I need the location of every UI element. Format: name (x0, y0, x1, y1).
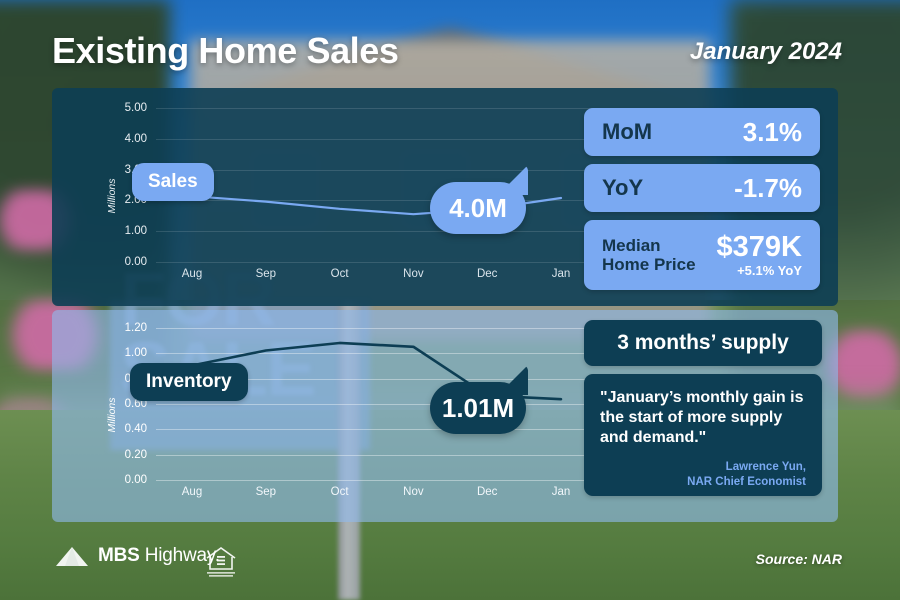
inventory-ytick: 0.00 (125, 474, 147, 486)
sales-plot-area: 0.00 1.00 2.00 3.00 4.00 5.00 Aug Sep Oc… (156, 108, 606, 262)
sales-ytick: 1.00 (125, 225, 147, 237)
stat-value-yoy: -1.7% (734, 173, 802, 204)
sales-series-label: Sales (132, 163, 214, 201)
sales-y-axis-title: Millions (106, 178, 118, 213)
inventory-y-axis-title: Millions (106, 397, 118, 432)
inventory-value-callout: 1.01M (430, 382, 526, 434)
inventory-series-label: Inventory (130, 363, 248, 401)
equal-housing-icon (203, 544, 239, 578)
stat-label-line2: Home Price (602, 255, 696, 274)
sales-ytick: 4.00 (125, 133, 147, 145)
report-period: January 2024 (690, 38, 842, 66)
sales-ytick: 0.00 (125, 256, 147, 268)
sales-ytick: 5.00 (125, 102, 147, 114)
source-note: Source: NAR (756, 551, 842, 567)
stat-value-median-home-price: $379K (717, 232, 802, 262)
inventory-ytick: 0.40 (125, 423, 147, 435)
stat-label-median-home-price: Median Home Price (602, 236, 696, 274)
inventory-callout-text: 1.01M (442, 393, 514, 424)
stat-label-line1: Median (602, 236, 661, 255)
logo-brand: MBS (98, 545, 140, 566)
quote-text: "January’s monthly gain is the start of … (600, 388, 806, 448)
page-title: Existing Home Sales (52, 30, 399, 72)
months-supply-card[interactable]: 3 months’ supply (584, 320, 822, 366)
inventory-panel: Millions 0.00 0.20 0.40 0.60 0.80 1.00 1… (52, 310, 838, 522)
stat-card-yoy[interactable]: YoY -1.7% (584, 164, 820, 212)
quote-attribution: Lawrence Yun, NAR Chief Economist (600, 460, 806, 490)
stat-card-median-home-price[interactable]: Median Home Price $379K +5.1% YoY (584, 220, 820, 290)
inventory-ytick: 1.20 (125, 322, 147, 334)
inventory-ytick: 0.20 (125, 449, 147, 461)
sales-callout-text: 4.0M (449, 193, 507, 224)
months-supply-text: 3 months’ supply (617, 331, 789, 355)
quote-author: Lawrence Yun, (600, 460, 806, 475)
inventory-chart: Millions 0.00 0.20 0.40 0.60 0.80 1.00 1… (114, 320, 614, 510)
quote-card: "January’s monthly gain is the start of … (584, 374, 822, 496)
mountain-icon (55, 546, 89, 567)
stat-label-mom: MoM (602, 120, 652, 145)
stat-value-mom: 3.1% (743, 117, 802, 148)
stat-label-yoy: YoY (602, 176, 643, 201)
mbs-highway-wordmark: MBS Highway. (98, 545, 220, 567)
inventory-ytick: 1.00 (125, 347, 147, 359)
sales-panel: Millions 0.00 1.00 2.00 3.00 4.00 5.00 A… (52, 88, 838, 306)
sales-value-callout: 4.0M (430, 182, 526, 234)
quote-author-title: NAR Chief Economist (600, 475, 806, 490)
stat-value-group-median: $379K +5.1% YoY (717, 232, 802, 277)
stat-card-mom[interactable]: MoM 3.1% (584, 108, 820, 156)
mbs-highway-logo[interactable]: MBS Highway. (55, 545, 220, 567)
inventory-plot-area: 0.00 0.20 0.40 0.60 0.80 1.00 1.20 Aug S… (156, 328, 606, 480)
equal-housing-opportunity-logo (203, 544, 239, 583)
stat-sub-median-home-price: +5.1% YoY (717, 263, 802, 278)
